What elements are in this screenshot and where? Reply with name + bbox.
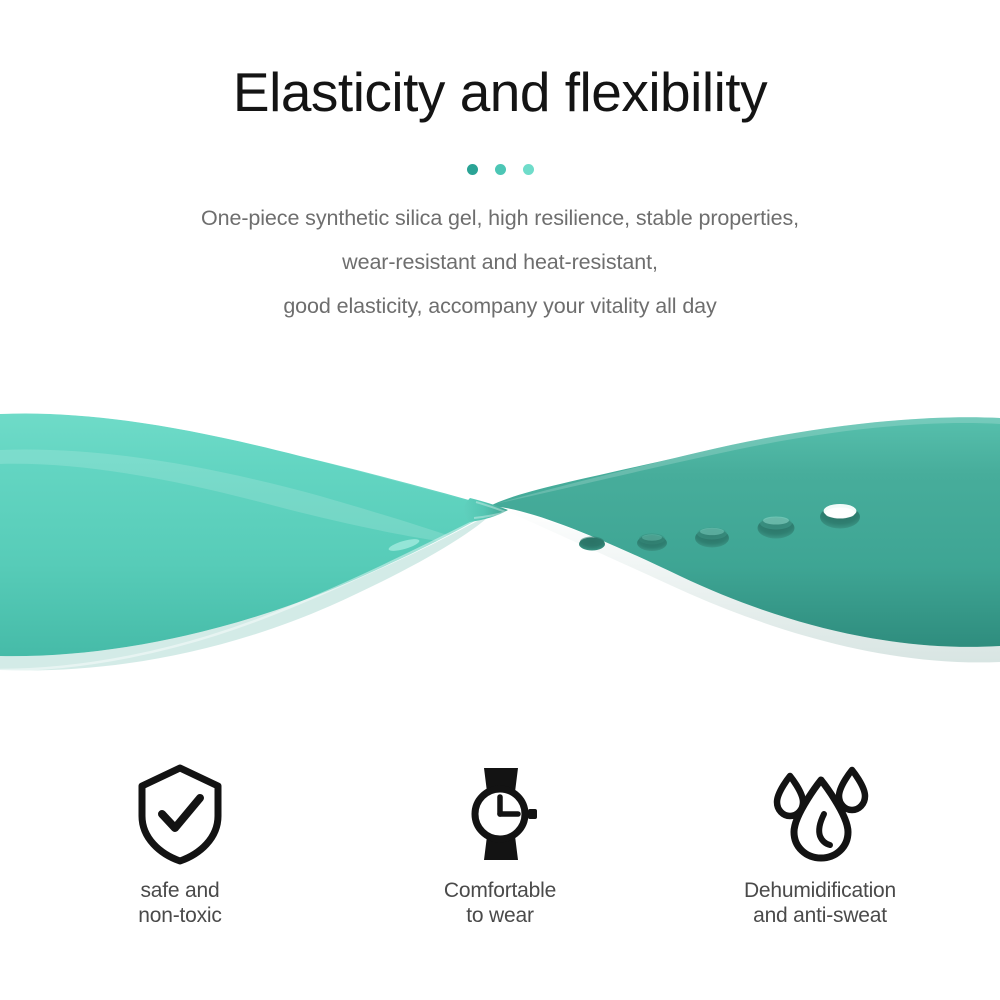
feature-label-line-2: and anti-sweat xyxy=(744,903,896,928)
feature-comfortable-to-wear: Comfortable to wear xyxy=(340,762,660,928)
adjustment-hole-3 xyxy=(695,528,729,548)
feature-label-line-1: safe and xyxy=(138,878,221,903)
subtitle-block: One-piece synthetic silica gel, high res… xyxy=(0,196,1000,328)
feature-label-line-2: non-toxic xyxy=(138,903,221,928)
band-right-segment xyxy=(490,417,1000,662)
adjustment-hole-4 xyxy=(758,517,795,539)
wristwatch-icon xyxy=(454,762,546,866)
feature-dehumidification: Dehumidification and anti-sweat xyxy=(660,762,980,928)
feature-label-line-1: Comfortable xyxy=(444,878,556,903)
adjustment-hole-1 xyxy=(579,537,605,551)
feature-row: safe and non-toxic Comfortable to wear xyxy=(0,762,1000,942)
adjustment-hole-5 xyxy=(820,504,860,529)
subtitle-line-3: good elasticity, accompany your vitality… xyxy=(0,284,1000,328)
adjustment-hole-2 xyxy=(637,534,667,552)
twisted-band-illustration xyxy=(0,340,1000,730)
feature-label-dehumidification: Dehumidification and anti-sweat xyxy=(744,878,896,928)
product-photo xyxy=(0,340,1000,730)
feature-label-line-1: Dehumidification xyxy=(744,878,896,903)
shield-check-icon xyxy=(134,762,226,866)
header: Elasticity and flexibility xyxy=(0,0,1000,124)
feature-label-line-2: to wear xyxy=(444,903,556,928)
band-left-segment xyxy=(0,404,498,670)
subtitle-line-2: wear-resistant and heat-resistant, xyxy=(0,240,1000,284)
feature-label-comfortable-to-wear: Comfortable to wear xyxy=(444,878,556,928)
subtitle-line-1: One-piece synthetic silica gel, high res… xyxy=(0,196,1000,240)
divider-dots xyxy=(0,164,1000,175)
feature-safe-non-toxic: safe and non-toxic xyxy=(20,762,340,928)
divider-dot-1 xyxy=(467,164,478,175)
divider-dot-2 xyxy=(495,164,506,175)
page-title: Elasticity and flexibility xyxy=(0,0,1000,124)
water-droplets-icon xyxy=(766,762,874,866)
feature-label-safe-non-toxic: safe and non-toxic xyxy=(138,878,221,928)
divider-dot-3 xyxy=(523,164,534,175)
